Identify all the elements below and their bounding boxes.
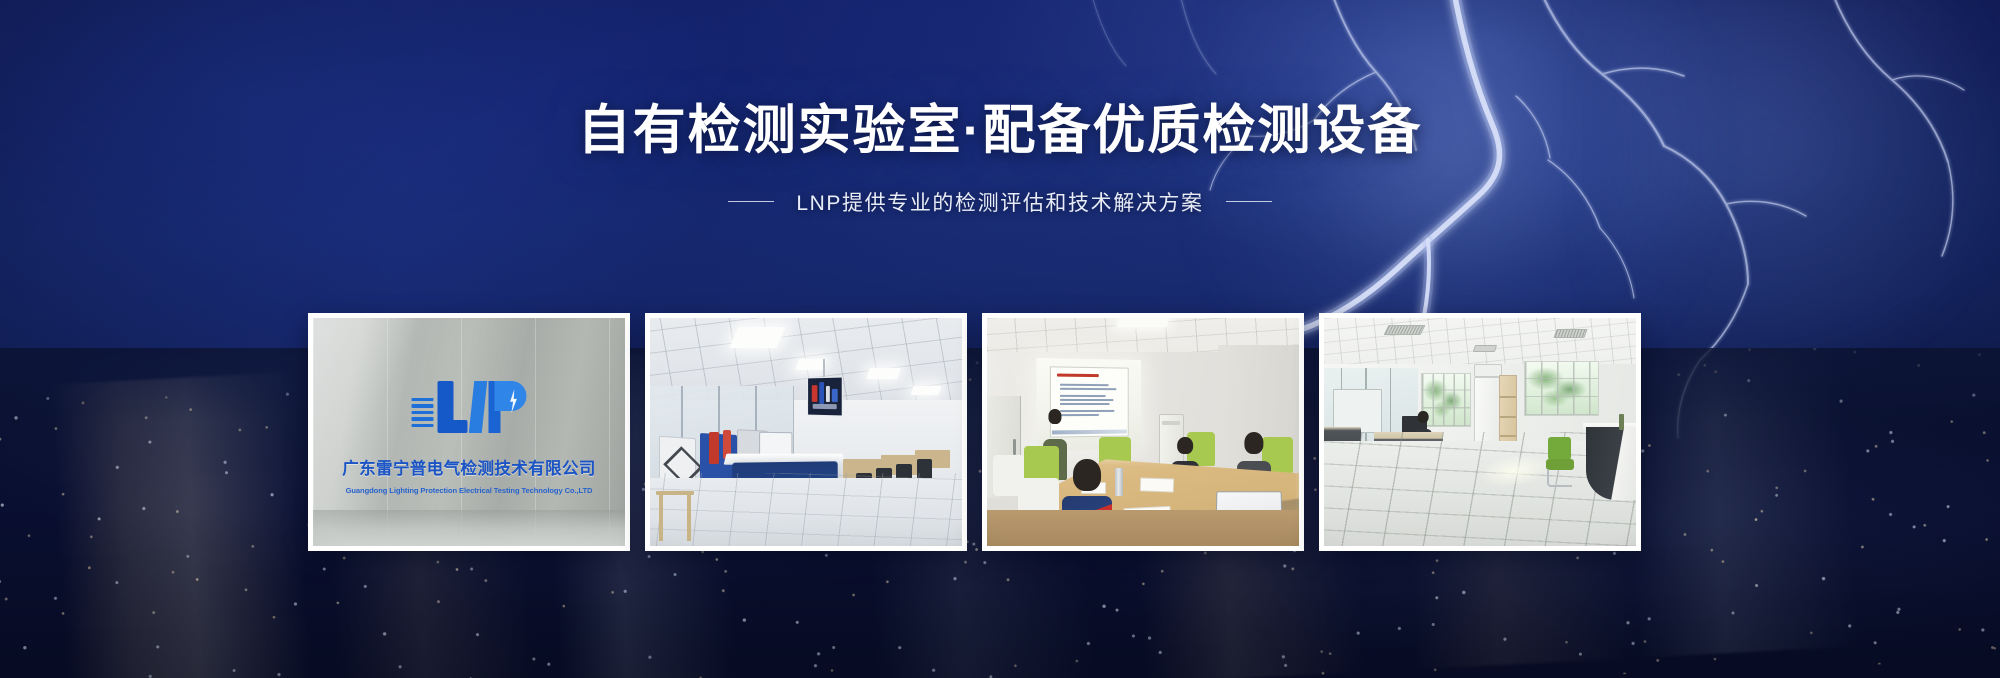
office-window — [1524, 361, 1599, 416]
gallery-item-meeting-room[interactable] — [982, 313, 1304, 551]
logo-letter-n — [469, 381, 487, 433]
office-photo — [1324, 318, 1636, 546]
lab-ceiling-light — [867, 368, 902, 379]
reception-counter — [1586, 427, 1636, 500]
company-name-chinese: 广东雷宁普电气检测技术有限公司 — [342, 455, 596, 479]
ceiling-vent — [1473, 345, 1497, 352]
window-mullions — [1525, 362, 1598, 415]
slide-title-bar — [1057, 373, 1099, 377]
testing-lab-photo — [650, 318, 962, 546]
meeting-room-photo — [987, 318, 1299, 546]
lab-floor-tiles — [650, 473, 962, 546]
meeting-floor — [987, 510, 1299, 546]
water-bottle — [1115, 468, 1123, 495]
photo-gallery: 广东雷宁普电气检测技术有限公司 Guangdong Lighting Prote… — [308, 313, 1648, 551]
logo-letter-p — [489, 381, 527, 433]
door-handle-icon — [1013, 439, 1017, 455]
document-paper — [1140, 477, 1175, 492]
logo-bars-icon — [412, 393, 434, 433]
page-subtitle: LNP提供专业的检测评估和技术解决方案 — [796, 187, 1203, 217]
company-sign-photo: 广东雷宁普电气检测技术有限公司 Guangdong Lighting Prote… — [313, 318, 625, 546]
lab-ceiling-light — [795, 359, 827, 370]
counter-bottle — [1619, 414, 1624, 430]
hero-text-block: 自有检测实验室·配备优质检测设备 LNP提供专业的检测评估和技术解决方案 — [0, 100, 2000, 217]
red-insulator-column — [709, 432, 719, 464]
gallery-item-testing-lab[interactable] — [645, 313, 967, 551]
lightning-flash-icon — [509, 389, 519, 413]
subtitle-row: LNP提供专业的检测评估和技术解决方案 — [0, 187, 2000, 217]
lab-ceiling-light — [911, 386, 942, 395]
lnp-logo-icon — [412, 377, 527, 433]
logo-letter-l — [438, 381, 454, 433]
sign-floor — [313, 510, 625, 546]
company-name-english: Guangdong Lighting Protection Electrical… — [346, 486, 593, 495]
office-green-chair — [1546, 437, 1574, 487]
rule-right-icon — [1226, 201, 1272, 202]
ceiling-vent — [1384, 325, 1426, 335]
page-title: 自有检测实验室·配备优质检测设备 — [0, 100, 2000, 163]
gallery-item-company-sign[interactable]: 广东雷宁普电气检测技术有限公司 Guangdong Lighting Prote… — [308, 313, 630, 551]
rule-left-icon — [728, 201, 774, 202]
office-air-conditioner — [1474, 364, 1502, 378]
wooden-stool — [656, 491, 693, 541]
gallery-item-office[interactable] — [1319, 313, 1641, 551]
wall-monitor-screen — [807, 377, 843, 417]
ceiling-vent — [1553, 329, 1588, 338]
lab-ceiling-light — [730, 327, 786, 348]
hero-banner: 自有检测实验室·配备优质检测设备 LNP提供专业的检测评估和技术解决方案 — [0, 0, 2000, 678]
meeting-ceiling-light — [1116, 318, 1170, 327]
